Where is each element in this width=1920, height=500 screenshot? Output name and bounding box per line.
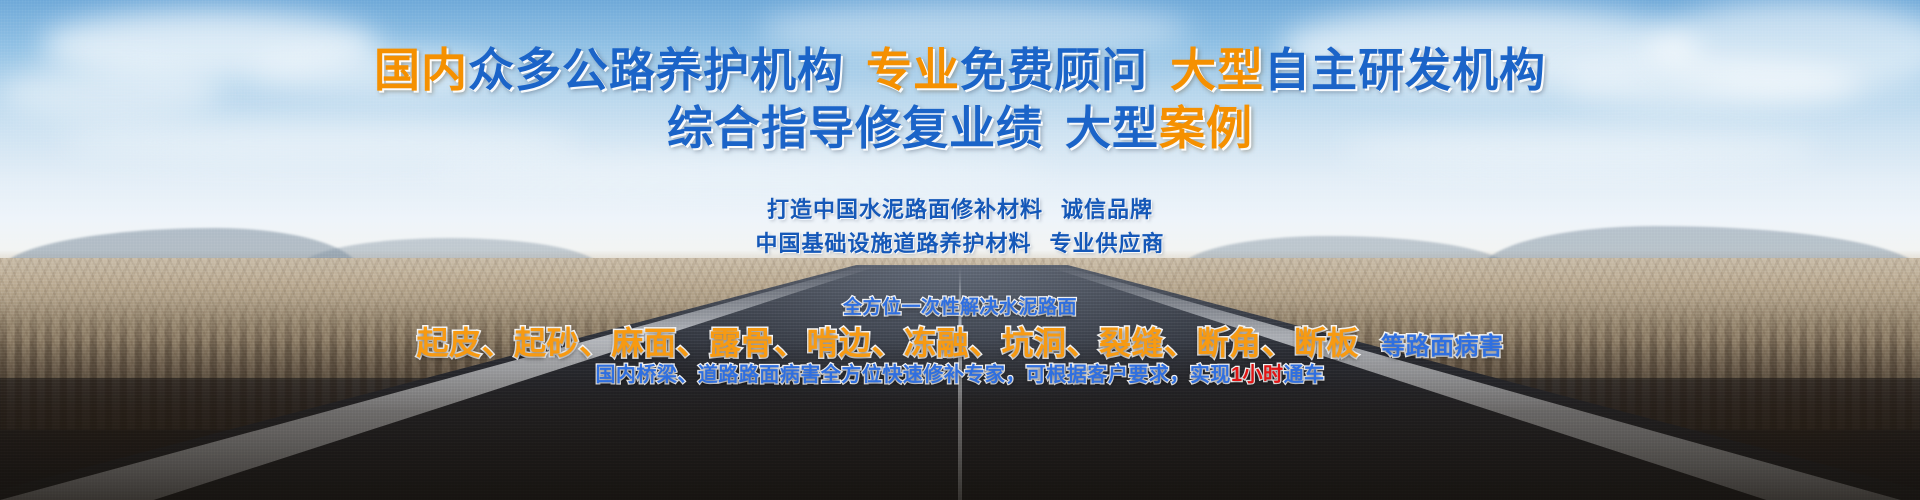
subhead-1b: 诚信品牌 <box>1061 197 1153 222</box>
bottom-line-3: 国内桥梁、道路路面病害全方位快速修补专家，可根据客户要求，实现1小时通车 <box>0 358 1920 387</box>
bottom-highlight-1hour: 1小时 <box>1231 364 1284 386</box>
headline-seg-mianfei: 免费顾问 <box>960 44 1148 96</box>
bottom-line-1: 全方位一次性解决水泥路面 <box>0 292 1920 319</box>
bottom-tagline: 全方位一次性解决水泥路面 <box>843 297 1077 318</box>
headline-seg-zhuanye: 专业 <box>866 44 960 96</box>
promo-banner: 国内众多公路养护机构专业免费顾问大型自主研发机构 综合指导修复业绩大型案例 打造… <box>0 0 1920 500</box>
bottom-expert-text: 国内桥梁、道路路面病害全方位快速修补专家，可根据客户要求，实现 <box>595 364 1231 386</box>
headline-seg-zonghe: 综合指导修复业绩 <box>667 102 1043 154</box>
subhead-2a: 中国基础设施道路养护材料 <box>755 231 1031 256</box>
subhead-line-2: 中国基础设施道路养护材料专业供应商 <box>0 226 1920 258</box>
headline-line-1: 国内众多公路养护机构专业免费顾问大型自主研发机构 <box>0 42 1920 98</box>
headline-seg-anli: 案例 <box>1159 102 1253 154</box>
headline-seg-daxing2: 大型 <box>1065 102 1159 154</box>
headline-seg-zizhu: 自主研发机构 <box>1264 44 1546 96</box>
headline-seg-guonei: 国内 <box>374 44 468 96</box>
subhead-2b: 专业供应商 <box>1050 231 1165 256</box>
subhead-1a: 打造中国水泥路面修补材料 <box>767 197 1043 222</box>
banner-copy: 国内众多公路养护机构专业免费顾问大型自主研发机构 综合指导修复业绩大型案例 打造… <box>0 0 1920 500</box>
headline-seg-zhongduo: 众多公路养护机构 <box>468 44 844 96</box>
headline-line-2: 综合指导修复业绩大型案例 <box>0 100 1920 156</box>
bottom-tongche-text: 通车 <box>1284 364 1325 386</box>
bottom-defect-tail: 等路面病害 <box>1381 333 1504 360</box>
subhead-line-1: 打造中国水泥路面修补材料诚信品牌 <box>0 192 1920 224</box>
headline-seg-daxing: 大型 <box>1170 44 1264 96</box>
bottom-defect-list: 起皮、起砂、麻面、露骨、啃边、冻融、坑洞、裂缝、断角、断板 <box>416 325 1359 361</box>
